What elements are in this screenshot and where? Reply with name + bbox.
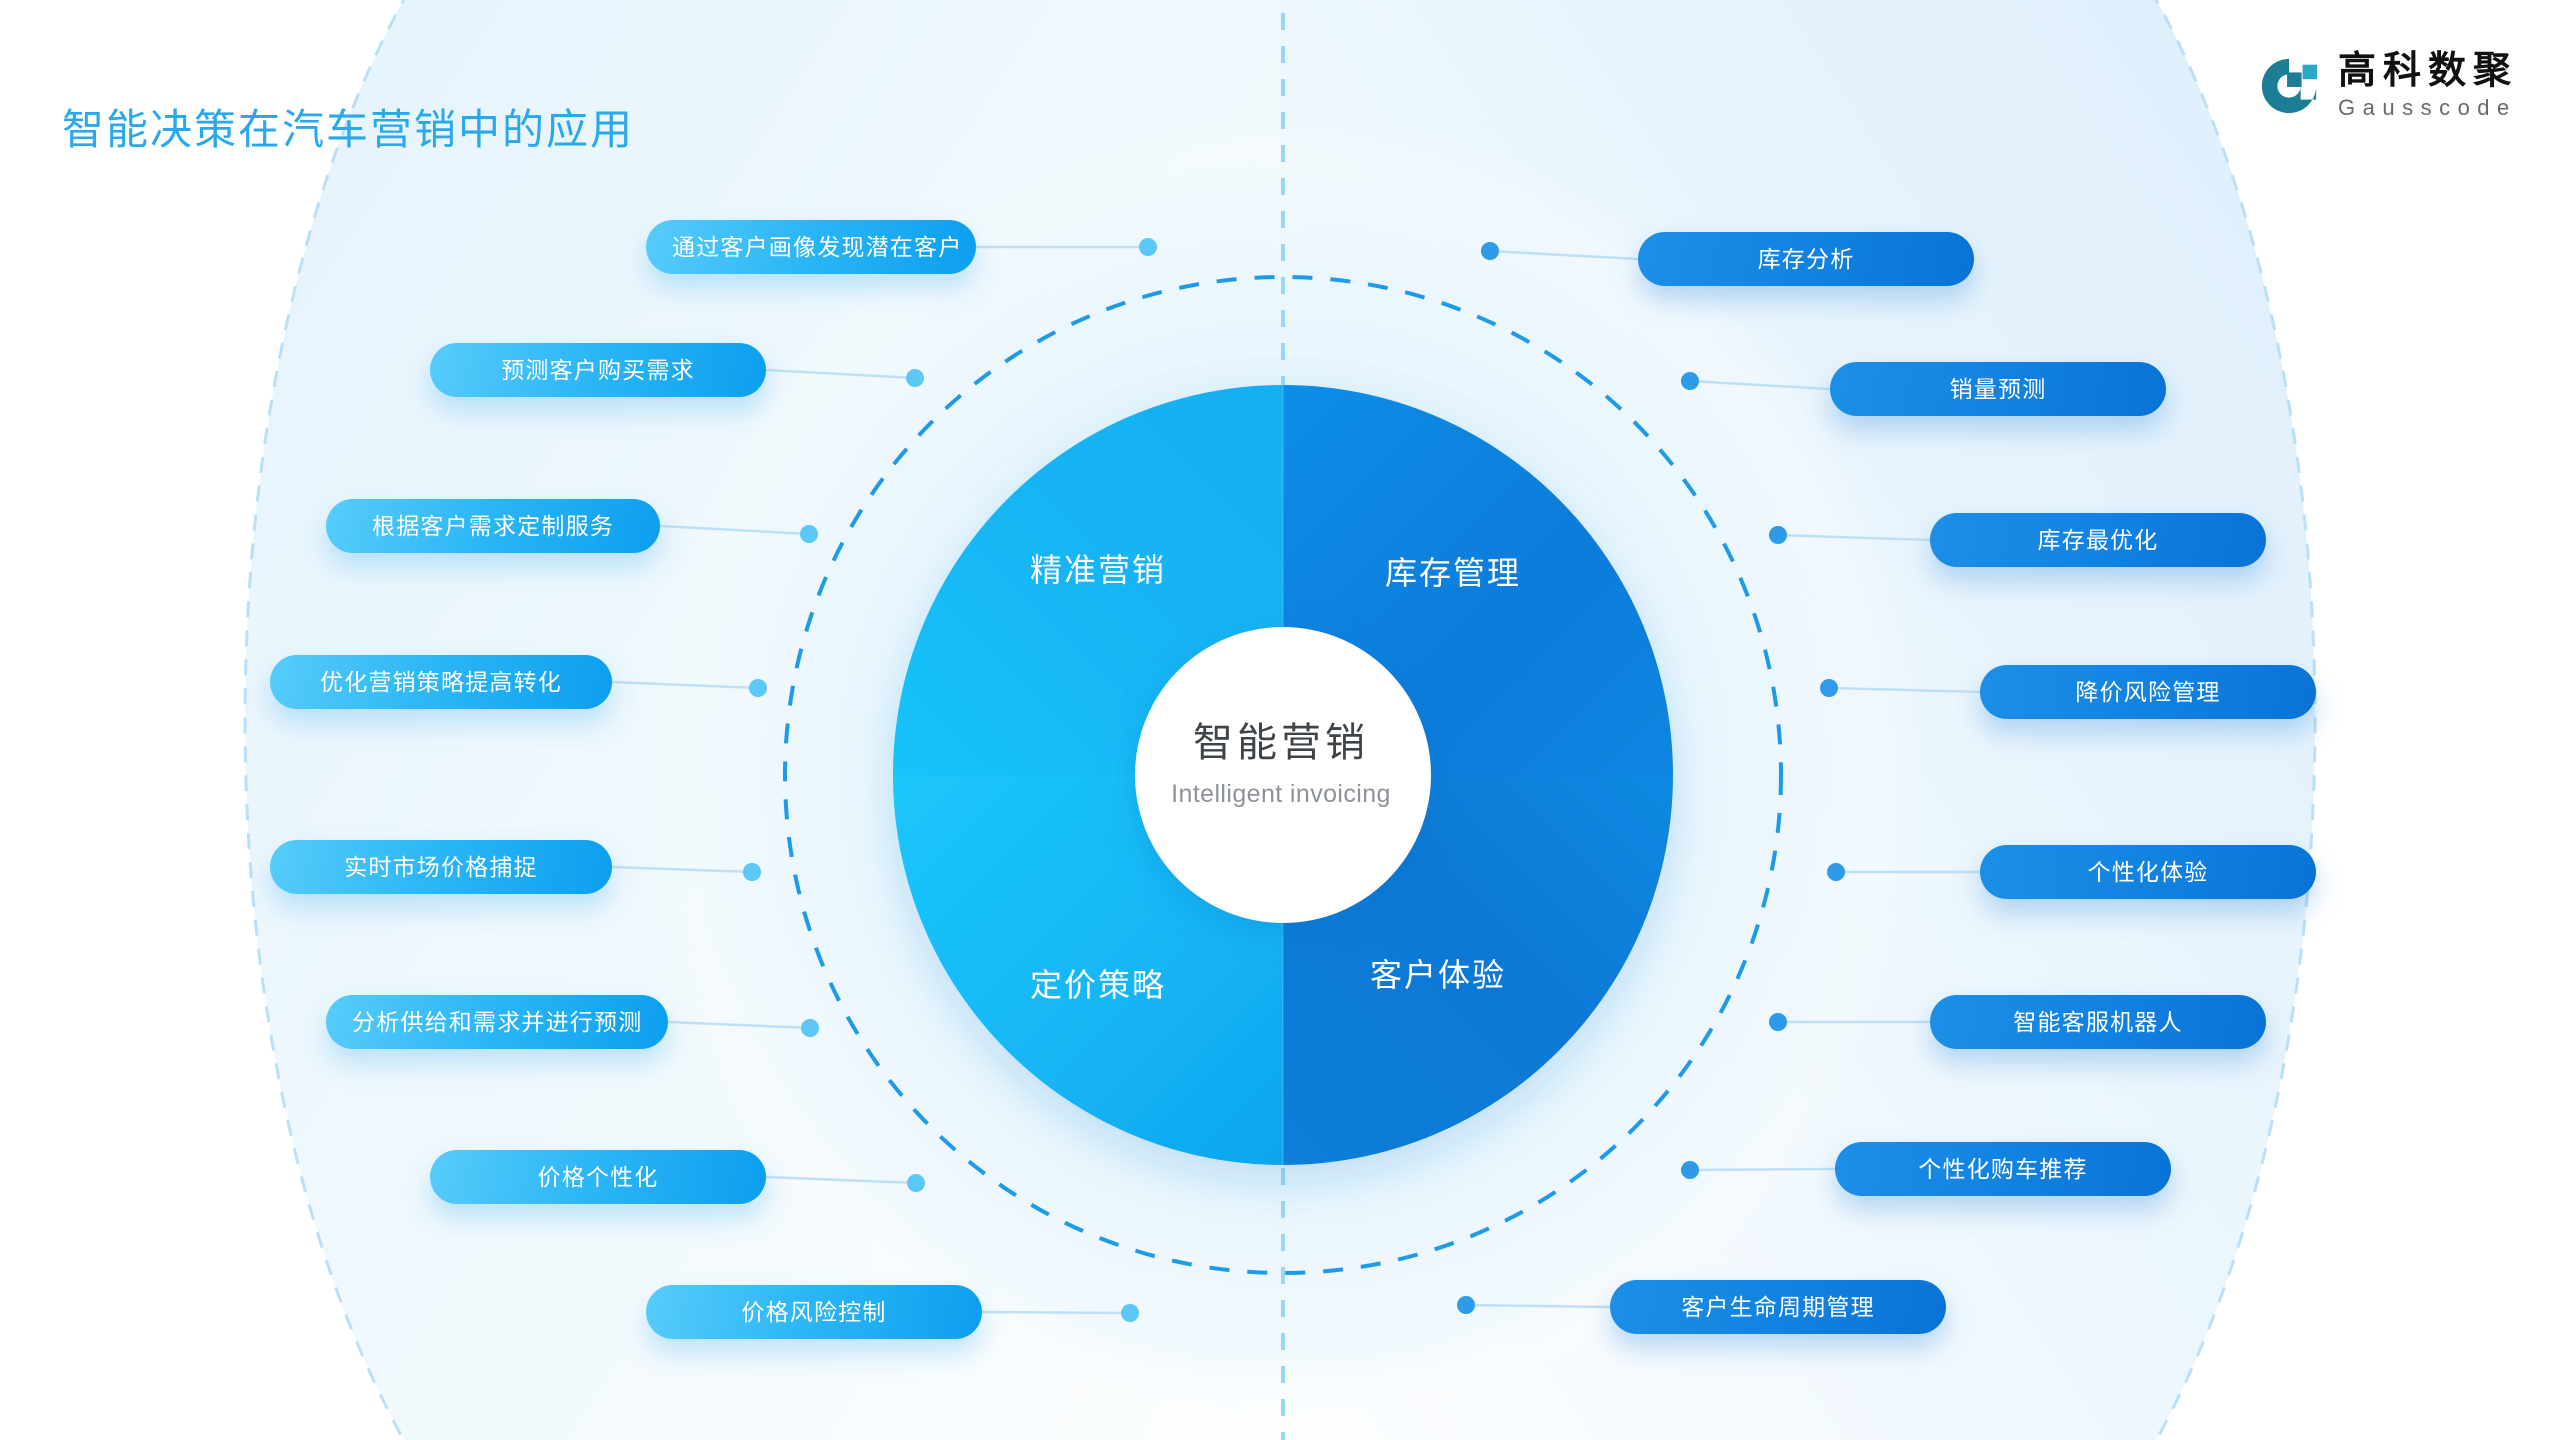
- pill-left-0[interactable]: 通过客户画像发现潜在客户: [646, 220, 976, 274]
- quadrant-label-inventory-management: 库存管理: [1385, 548, 1521, 594]
- connector-dot: [1827, 863, 1845, 881]
- pill-right-2[interactable]: 库存最优化: [1930, 513, 2266, 567]
- page-title: 智能决策在汽车营销中的应用: [62, 96, 634, 157]
- logo-cn-text: 高科数聚: [2338, 52, 2518, 90]
- center-core-circle: [1135, 627, 1431, 923]
- logo-en-text: Gausscode: [2338, 97, 2518, 119]
- connector-dot: [801, 1019, 819, 1037]
- pill-right-1[interactable]: 销量预测: [1830, 362, 2166, 416]
- pill-right-6[interactable]: 个性化购车推荐: [1835, 1142, 2171, 1196]
- connector-line: [1690, 1169, 1835, 1170]
- connector-dot: [1769, 526, 1787, 544]
- infographic-canvas: 智能决策在汽车营销中的应用 高科数聚 Gausscode 精准营销 库存管理 定…: [0, 0, 2560, 1440]
- pill-right-7[interactable]: 客户生命周期管理: [1610, 1280, 1946, 1334]
- connector-dot: [1681, 372, 1699, 390]
- pill-left-1[interactable]: 预测客户购买需求: [430, 343, 766, 397]
- connector-dot: [1769, 1013, 1787, 1031]
- pill-right-3[interactable]: 降价风险管理: [1980, 665, 2316, 719]
- quadrant-label-pricing-strategy: 定价策略: [1030, 960, 1166, 1006]
- connector-line: [982, 1312, 1130, 1313]
- pill-right-0[interactable]: 库存分析: [1638, 232, 1974, 286]
- connector-dot: [1121, 1304, 1139, 1322]
- connector-dot: [906, 369, 924, 387]
- connector-dot: [800, 525, 818, 543]
- connector-dot: [1457, 1296, 1475, 1314]
- pill-right-5[interactable]: 智能客服机器人: [1930, 995, 2266, 1049]
- pill-right-4[interactable]: 个性化体验: [1980, 845, 2316, 899]
- gausscode-g-mark-icon: [2258, 55, 2320, 117]
- connector-dot: [1139, 238, 1157, 256]
- background-decorations: [0, 0, 2560, 1440]
- pill-left-7[interactable]: 价格风险控制: [646, 1285, 982, 1339]
- quadrant-label-precision-marketing: 精准营销: [1030, 545, 1166, 591]
- pill-left-5[interactable]: 分析供给和需求并进行预测: [326, 995, 668, 1049]
- connector-dot: [907, 1174, 925, 1192]
- pill-left-3[interactable]: 优化营销策略提高转化: [270, 655, 612, 709]
- connector-dot: [749, 679, 767, 697]
- pill-left-6[interactable]: 价格个性化: [430, 1150, 766, 1204]
- connector-dot: [1681, 1161, 1699, 1179]
- brand-logo: 高科数聚 Gausscode: [2258, 52, 2518, 119]
- connector-dot: [1820, 679, 1838, 697]
- connector-dot: [1481, 242, 1499, 260]
- connector-dot: [743, 863, 761, 881]
- quadrant-label-customer-experience: 客户体验: [1370, 950, 1506, 996]
- pill-left-2[interactable]: 根据客户需求定制服务: [326, 499, 660, 553]
- pill-left-4[interactable]: 实时市场价格捕捉: [270, 840, 612, 894]
